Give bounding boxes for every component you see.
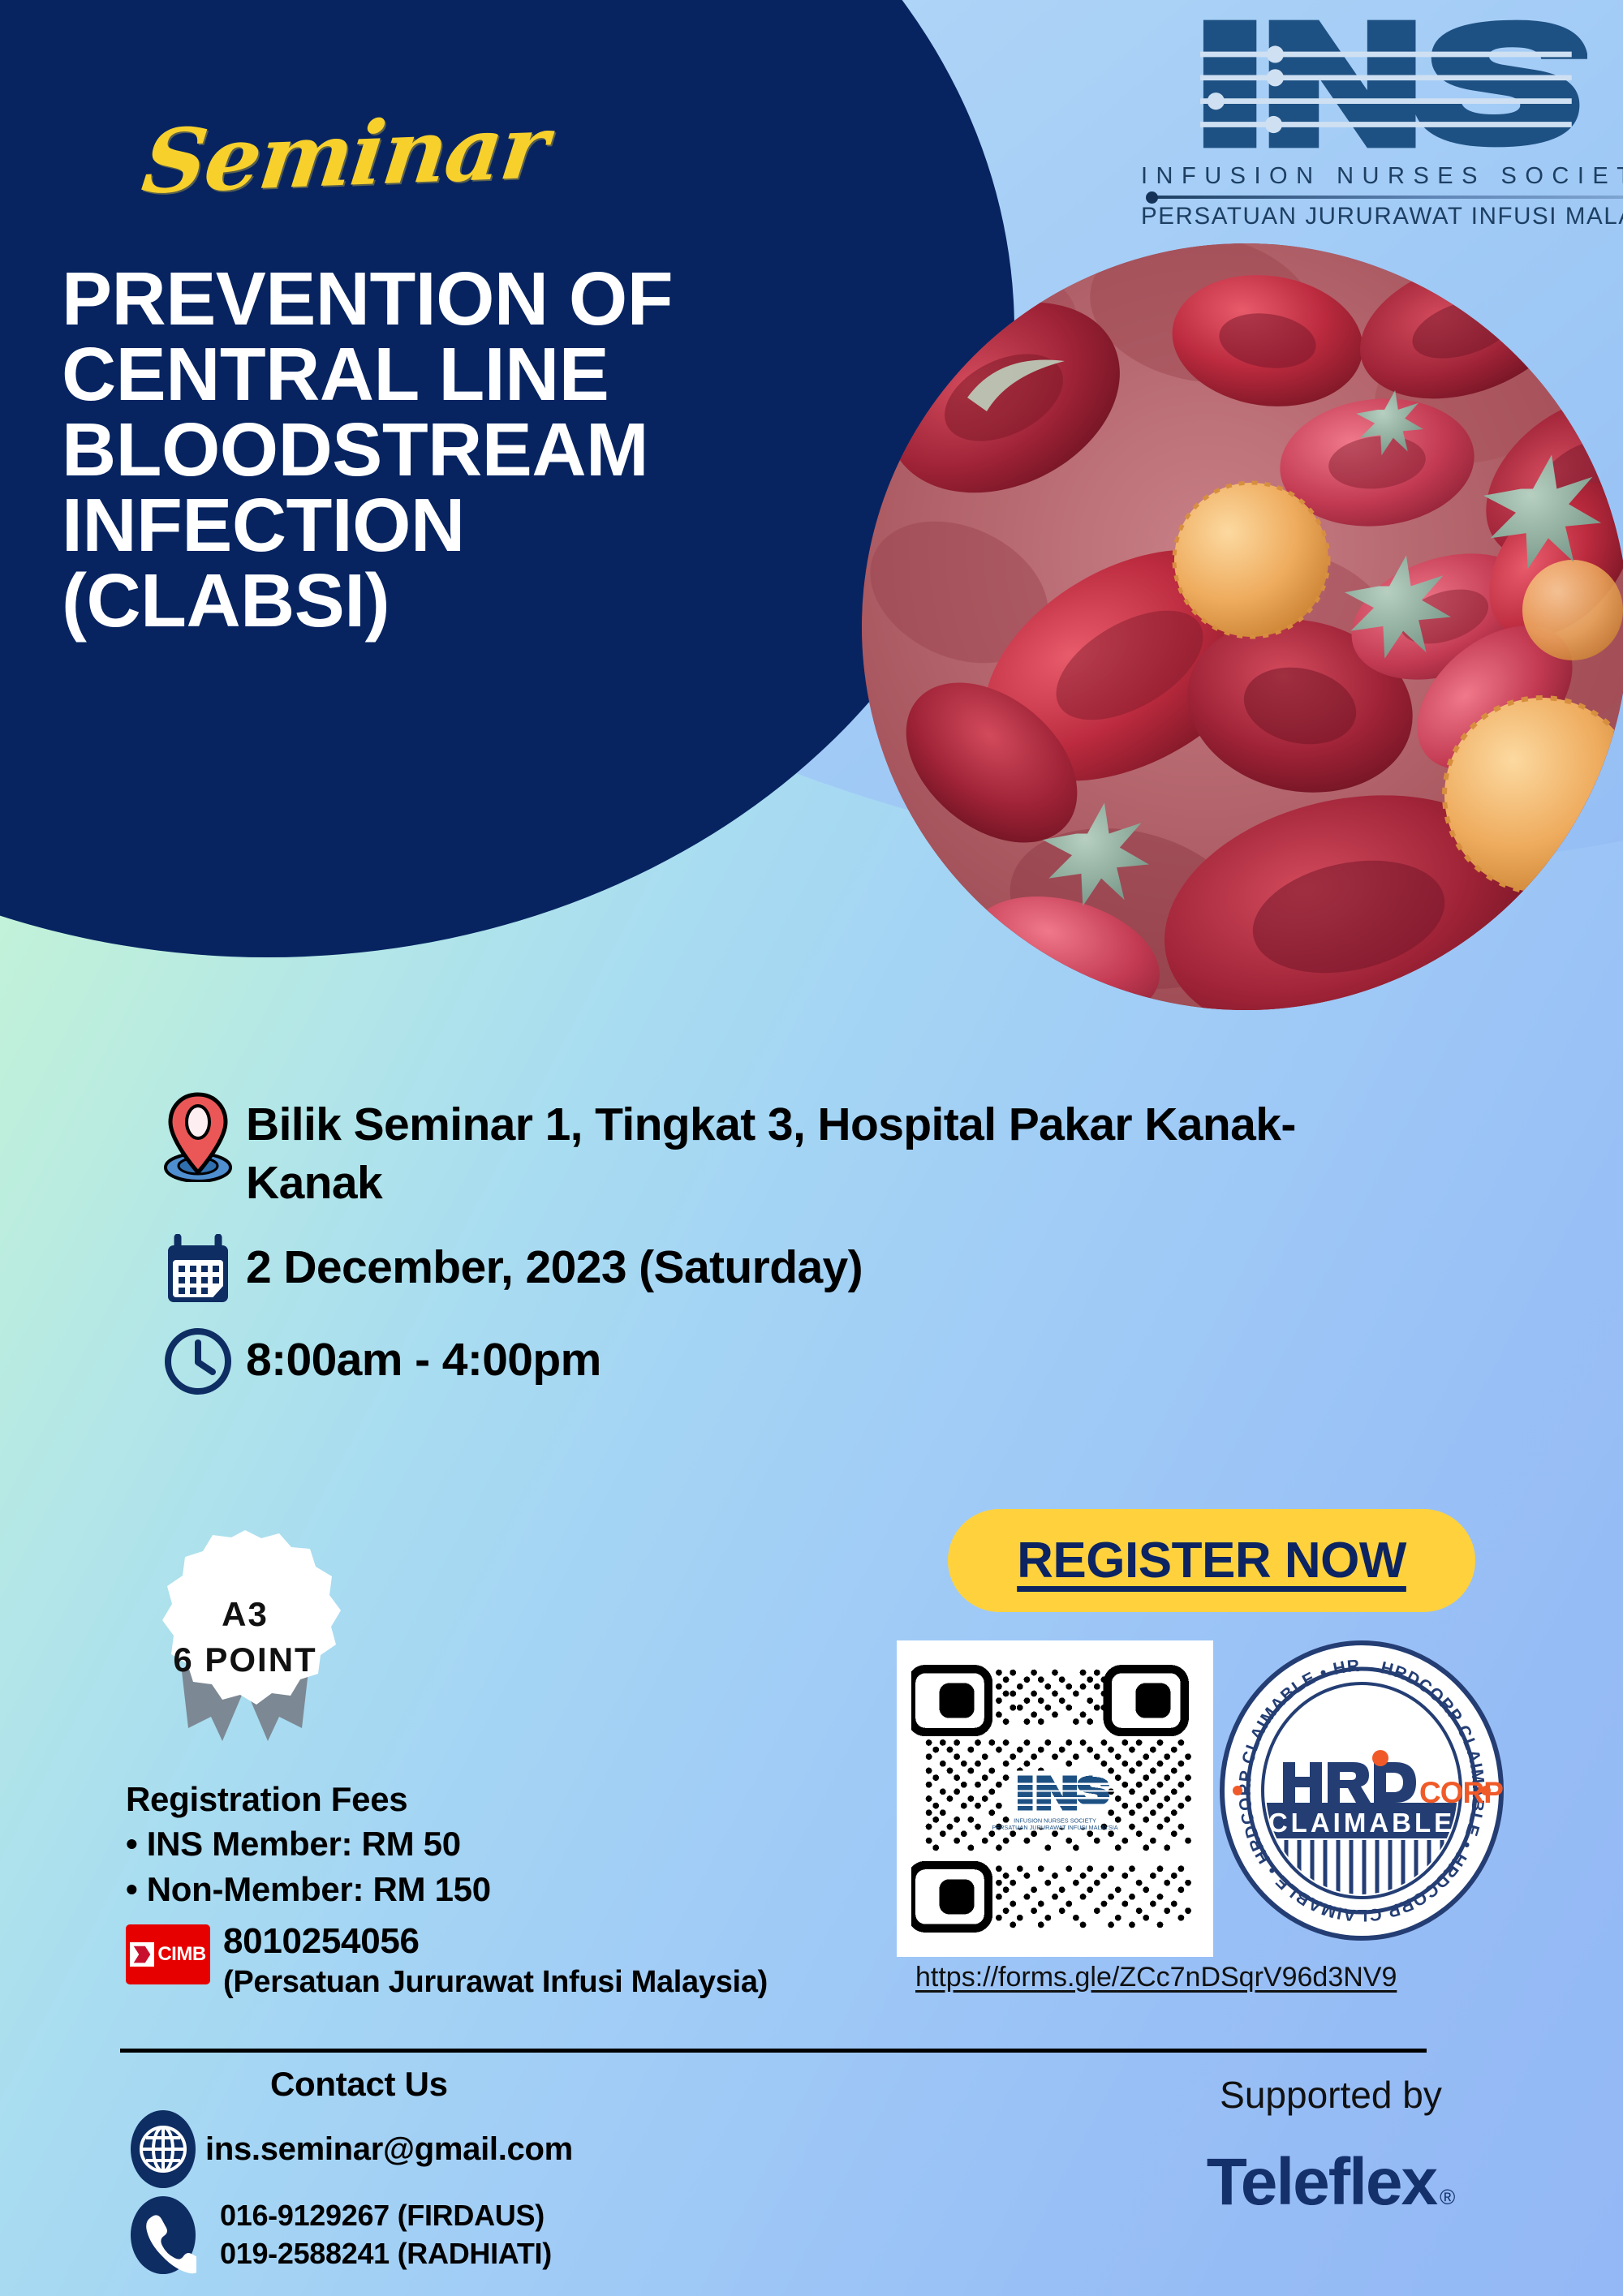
fees-heading: Registration Fees: [126, 1777, 937, 1821]
detail-row-time: 8:00am - 4:00pm: [150, 1326, 1416, 1396]
ins-logo-tagline-en: INFUSION NURSES SOCIETY: [1141, 163, 1623, 190]
time-text: 8:00am - 4:00pm: [246, 1326, 601, 1390]
event-details: Bilik Seminar 1, Tingkat 3, Hospital Pak…: [150, 1091, 1416, 1403]
hrdcorp-claimable-seal: HRDCORP CLAIMABLE • HRDCORP CLAIMABLE • …: [1220, 1640, 1504, 1941]
title-line-2: CENTRAL LINE: [62, 337, 922, 412]
calendar-icon: [150, 1234, 246, 1305]
qr-center-logo: INFUSION NURSES SOCIETY PERSATUAN JURURA…: [992, 1770, 1117, 1831]
badge-line-1: A3: [222, 1595, 269, 1633]
sponsor-label: Supported by: [1120, 2073, 1542, 2117]
contact-section: Contact Us ins.seminar@gmail.com: [120, 2065, 850, 2276]
contact-heading: Contact Us: [270, 2065, 850, 2104]
page-title: PREVENTION OF CENTRAL LINE BLOODSTREAM I…: [62, 261, 922, 638]
kicker-seminar: Seminar: [137, 97, 552, 214]
registration-fees: Registration Fees • INS Member: RM 50 • …: [126, 1777, 937, 2001]
bank-details: CIMB 8010254056 (Persatuan Jururawat Inf…: [126, 1920, 937, 2001]
title-line-5: (CLABSI): [62, 563, 922, 638]
ins-logo-divider: [1156, 196, 1623, 199]
cimb-logo: CIMB: [126, 1924, 210, 1984]
bank-account: 8010254056 (Persatuan Jururawat Infusi M…: [223, 1920, 768, 2001]
cpd-points-badge: A3 6 POINT: [131, 1525, 359, 1769]
contact-email[interactable]: ins.seminar@gmail.com: [205, 2128, 573, 2170]
account-holder: (Persatuan Jururawat Infusi Malaysia): [223, 1963, 768, 2001]
date-text: 2 December, 2023 (Saturday): [246, 1234, 863, 1297]
venue-text: Bilik Seminar 1, Tingkat 3, Hospital Pak…: [246, 1091, 1416, 1213]
account-number: 8010254056: [223, 1920, 768, 1963]
globe-icon: [120, 2109, 205, 2190]
footer-divider: [120, 2049, 1427, 2053]
svg-text:CLAIMABLE: CLAIMABLE: [1268, 1808, 1455, 1838]
teleflex-logo: Teleflex ®: [1120, 2144, 1542, 2221]
sponsor-section: Supported by Teleflex ®: [1120, 2073, 1542, 2221]
clock-icon: [150, 1326, 246, 1396]
phone-icon: [120, 2195, 205, 2276]
teleflex-trademark: ®: [1440, 2185, 1455, 2210]
svg-text:PERSATUAN JURURAWAT INFUSI MAL: PERSATUAN JURURAWAT INFUSI MALAYSIA: [992, 1824, 1117, 1831]
register-now-button[interactable]: REGISTER NOW: [948, 1509, 1475, 1612]
registration-qr-code[interactable]: INFUSION NURSES SOCIETY PERSATUAN JURURA…: [897, 1640, 1213, 1957]
cimb-arrow-icon: [130, 1942, 154, 1967]
fee-item-nonmember: • Non-Member: RM 150: [126, 1867, 937, 1911]
svg-text:CORP: CORP: [1419, 1776, 1503, 1809]
contact-phone-1[interactable]: 016-9129267 (FIRDAUS): [220, 2197, 552, 2235]
blood-cells-image: [862, 243, 1623, 1010]
contact-phones: 016-9129267 (FIRDAUS) 019-2588241 (RADHI…: [220, 2197, 552, 2273]
location-pin-icon: [150, 1091, 246, 1182]
badge-line-2: 6 POINT: [173, 1640, 316, 1679]
title-line-3: BLOODSTREAM: [62, 412, 922, 488]
ins-logo-mark: [1182, 5, 1587, 163]
contact-row-email: ins.seminar@gmail.com: [120, 2109, 850, 2190]
ins-logo-tagline-my: PERSATUAN JURURAWAT INFUSI MALAYSIA: [1141, 203, 1623, 230]
registration-url-link[interactable]: https://forms.gle/ZCc7nDSqrV96d3NV9: [915, 1962, 1483, 1993]
poster-canvas: INFUSION NURSES SOCIETY PERSATUAN JURURA…: [0, 0, 1623, 2296]
contact-phone-2[interactable]: 019-2588241 (RADHIATI): [220, 2235, 552, 2273]
ins-logo: INFUSION NURSES SOCIETY PERSATUAN JURURA…: [1141, 5, 1623, 230]
fee-item-member: • INS Member: RM 50: [126, 1821, 937, 1866]
title-line-1: PREVENTION OF: [62, 261, 922, 337]
detail-row-venue: Bilik Seminar 1, Tingkat 3, Hospital Pak…: [150, 1091, 1416, 1213]
title-line-4: INFECTION: [62, 488, 922, 563]
contact-row-phone: 016-9129267 (FIRDAUS) 019-2588241 (RADHI…: [120, 2195, 850, 2276]
teleflex-wordmark: Teleflex: [1207, 2144, 1436, 2221]
cimb-wordmark: CIMB: [157, 1941, 205, 1967]
register-now-label: REGISTER NOW: [1017, 1532, 1406, 1589]
detail-row-date: 2 December, 2023 (Saturday): [150, 1234, 1416, 1305]
